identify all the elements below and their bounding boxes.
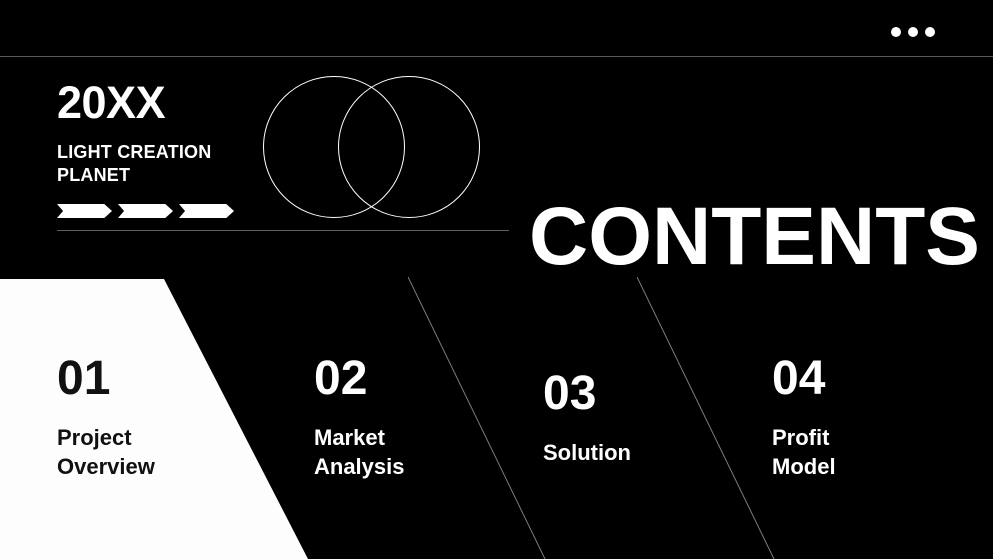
more-horizontal-icon-dot-3 [925, 27, 935, 37]
contents-item-03[interactable]: 03 Solution [543, 370, 631, 467]
brand-divider [57, 230, 509, 231]
arrow-marks-group [57, 204, 234, 218]
contents-list: 01 Project Overview 02 Market Analysis 0… [0, 277, 993, 559]
arrow-right-icon-1 [57, 204, 112, 218]
topbar-divider [0, 56, 993, 57]
circle-right-icon [338, 76, 480, 218]
presentation-slide: 20XX LIGHT CREATION PLANET CONTENTS 01 P… [0, 0, 993, 559]
contents-item-label: Profit Model [772, 423, 836, 481]
arrow-right-icon-2 [118, 204, 173, 218]
contents-item-label: Project Overview [57, 423, 155, 481]
page-title: CONTENTS [529, 196, 980, 278]
contents-item-number: 03 [543, 370, 631, 418]
arrow-right-icon-3 [179, 204, 234, 218]
contents-item-01[interactable]: 01 Project Overview [57, 355, 155, 481]
highlight-panel [0, 279, 320, 559]
contents-item-number: 02 [314, 355, 405, 403]
contents-item-02[interactable]: 02 Market Analysis [314, 355, 405, 481]
contents-item-label: Market Analysis [314, 423, 405, 481]
overflow-menu-button[interactable] [891, 27, 935, 37]
more-horizontal-icon-dot-2 [908, 27, 918, 37]
contents-item-label: Solution [543, 438, 631, 467]
brand-name: LIGHT CREATION PLANET [57, 141, 242, 188]
contents-item-number: 04 [772, 355, 836, 403]
more-horizontal-icon-dot-1 [891, 27, 901, 37]
slide-topbar [0, 0, 993, 57]
contents-item-04[interactable]: 04 Profit Model [772, 355, 836, 481]
contents-item-number: 01 [57, 355, 155, 403]
overlapping-circles-icon [263, 76, 483, 222]
